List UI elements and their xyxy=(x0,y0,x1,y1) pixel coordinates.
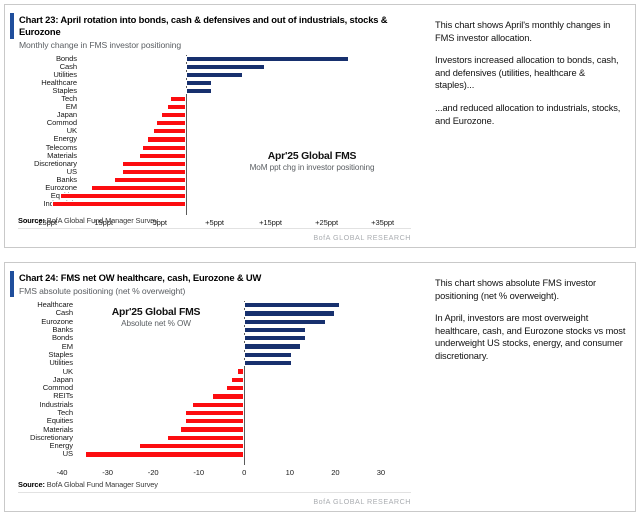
chart-24-subtitle: FMS absolute positioning (net % overweig… xyxy=(19,285,415,297)
category-label: US xyxy=(63,450,73,458)
bar-negative xyxy=(167,435,244,441)
bar-negative xyxy=(85,451,244,457)
bar-negative xyxy=(226,385,244,391)
chart-23-panel: Chart 23: April rotation into bonds, cas… xyxy=(4,4,636,248)
bar-negative xyxy=(212,393,244,399)
bar-row: US xyxy=(5,450,423,458)
bar-positive xyxy=(186,56,348,62)
category-label-zone: US xyxy=(5,450,73,458)
chart-23-source-text: BofA Global Fund Manager Survey xyxy=(47,216,158,225)
axis-tick-label: -10 xyxy=(193,468,204,477)
axis-tick-label: -40 xyxy=(57,468,68,477)
bar-positive xyxy=(186,72,242,78)
chart-23-notes: This chart shows April's monthly changes… xyxy=(423,5,636,247)
axis-tick-label: 0 xyxy=(242,468,246,477)
chart-23-plot: Apr'25 Global FMS MoM ppt chg in investo… xyxy=(5,55,423,215)
accent-bar xyxy=(10,13,14,39)
axis-tick-label: +5ppt xyxy=(205,218,224,227)
axis-tick-label: +35ppt xyxy=(371,218,394,227)
bar-negative xyxy=(161,112,186,118)
chart-23-source-prefix: Source: xyxy=(18,216,45,225)
bar-negative xyxy=(114,177,187,183)
axis-tick-label: +25ppt xyxy=(315,218,338,227)
bar-negative xyxy=(237,368,244,374)
bar-positive xyxy=(186,80,211,86)
chart-24-source-text: BofA Global Fund Manager Survey xyxy=(47,480,158,489)
chart-24-panel: Chart 24: FMS net OW healthcare, cash, E… xyxy=(4,262,636,512)
bar-negative xyxy=(167,104,187,110)
chart-24-notes: This chart shows absolute FMS investor p… xyxy=(423,263,636,511)
chart-23-divider xyxy=(18,228,411,229)
chart-24-note-paragraph: This chart shows absolute FMS investor p… xyxy=(435,277,626,302)
chart-24-header: Chart 24: FMS net OW healthcare, cash, E… xyxy=(5,263,423,301)
chart-24-plot: Apr'25 Global FMS Absolute net % OW Heal… xyxy=(5,301,423,465)
chart-23-source: Source: BofA Global Fund Manager Survey xyxy=(18,216,158,225)
bar-positive xyxy=(186,88,211,94)
bar-negative xyxy=(139,443,244,449)
chart-23-note-paragraph: Investors increased allocation to bonds,… xyxy=(435,54,626,92)
bar-negative xyxy=(192,402,244,408)
chart-23-subtitle: Monthly change in FMS investor positioni… xyxy=(19,39,415,51)
bar-negative xyxy=(153,128,187,134)
chart-24-source: Source: BofA Global Fund Manager Survey xyxy=(18,480,158,489)
bar-positive xyxy=(244,302,340,308)
bar-positive xyxy=(244,335,306,341)
chart-23-title: Chart 23: April rotation into bonds, cas… xyxy=(19,14,415,38)
bar-negative xyxy=(180,426,244,432)
chart-23-column: Chart 23: April rotation into bonds, cas… xyxy=(5,5,423,247)
bar-positive xyxy=(244,310,335,316)
report-page: Chart 23: April rotation into bonds, cas… xyxy=(0,0,640,516)
axis-tick-label: -20 xyxy=(148,468,159,477)
bar-positive xyxy=(244,327,306,333)
bar-positive xyxy=(244,319,326,325)
bar-negative xyxy=(147,136,186,142)
bar-negative xyxy=(60,193,186,199)
bar-negative xyxy=(185,418,244,424)
axis-tick-label: 20 xyxy=(331,468,339,477)
bar-negative xyxy=(122,169,186,175)
bar-negative xyxy=(91,185,186,191)
chart-24-brand: BofA GLOBAL RESEARCH xyxy=(313,497,411,506)
bar-negative xyxy=(142,145,187,151)
bar-negative xyxy=(139,153,187,159)
axis-tick-label: 10 xyxy=(286,468,294,477)
bar-negative xyxy=(231,377,245,383)
chart-24-title: Chart 24: FMS net OW healthcare, cash, E… xyxy=(19,272,415,284)
bar-positive xyxy=(186,64,264,70)
chart-23-header: Chart 23: April rotation into bonds, cas… xyxy=(5,5,423,55)
axis-tick-label: -30 xyxy=(102,468,113,477)
accent-bar xyxy=(10,271,14,297)
bar-positive xyxy=(244,360,292,366)
bar-positive xyxy=(244,343,301,349)
chart-23-brand: BofA GLOBAL RESEARCH xyxy=(313,233,411,242)
chart-23-note-paragraph: ...and reduced allocation to industrials… xyxy=(435,102,626,127)
bar-negative xyxy=(122,161,186,167)
axis-tick-label: +15ppt xyxy=(259,218,282,227)
chart-24-source-prefix: Source: xyxy=(18,480,45,489)
bar-negative xyxy=(156,120,187,126)
bar-negative xyxy=(52,201,186,207)
chart-24-column: Chart 24: FMS net OW healthcare, cash, E… xyxy=(5,263,423,511)
bar-row: Industrials xyxy=(5,200,423,208)
chart-23-note-paragraph: This chart shows April's monthly changes… xyxy=(435,19,626,44)
chart-24-note-paragraph: In April, investors are most overweight … xyxy=(435,312,626,362)
bar-positive xyxy=(244,352,292,358)
bar-negative xyxy=(185,410,244,416)
axis-tick-label: 30 xyxy=(377,468,385,477)
chart-24-divider xyxy=(18,492,411,493)
bar-negative xyxy=(170,96,187,102)
